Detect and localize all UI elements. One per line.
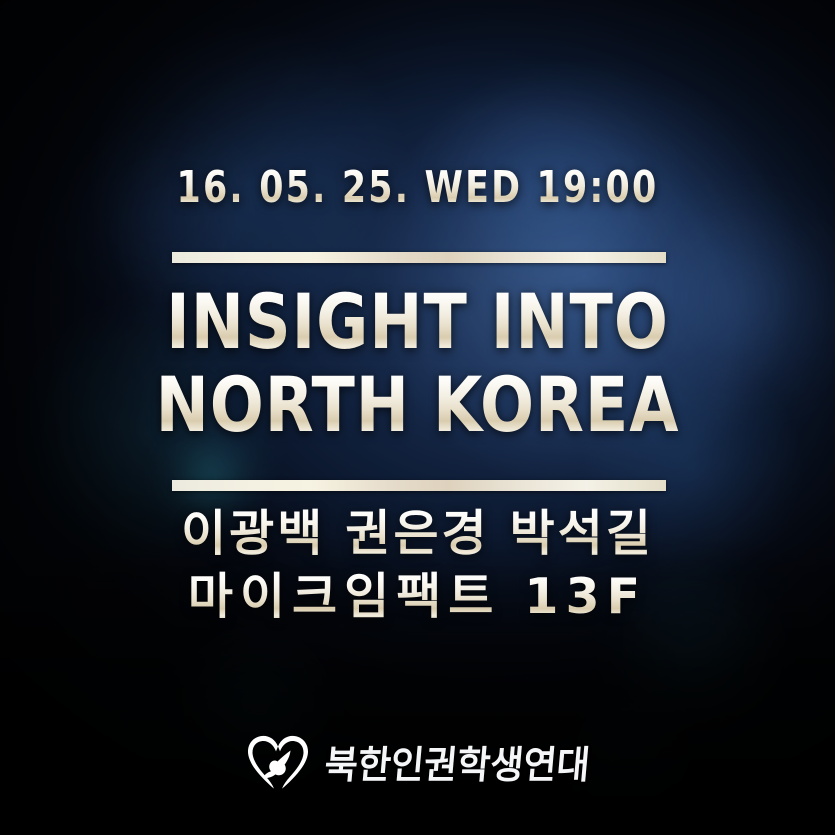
event-poster: 16. 05. 25. WED 19:00 INSIGHT INTO NORTH… — [0, 0, 835, 835]
venue-location: 마이크임팩트 13F — [0, 571, 835, 623]
event-title: INSIGHT INTO NORTH KOREA — [0, 286, 835, 441]
title-line-2: NORTH KOREA — [29, 369, 806, 440]
organization-name: 북한인권학생연대 — [323, 734, 593, 789]
event-details: 이광백 권은경 박석길 마이크임팩트 13F — [0, 508, 835, 623]
title-line-1: INSIGHT INTO — [29, 286, 806, 357]
divider-rule-bottom — [172, 480, 666, 491]
poster-content: 16. 05. 25. WED 19:00 INSIGHT INTO NORTH… — [0, 0, 835, 835]
organization-logo: 북한인권학생연대 — [0, 733, 835, 791]
divider-rule-top — [172, 252, 666, 263]
heart-torch-icon — [245, 733, 311, 791]
speaker-names: 이광백 권은경 박석길 — [0, 508, 835, 560]
event-date-time: 16. 05. 25. WED 19:00 — [50, 166, 785, 210]
